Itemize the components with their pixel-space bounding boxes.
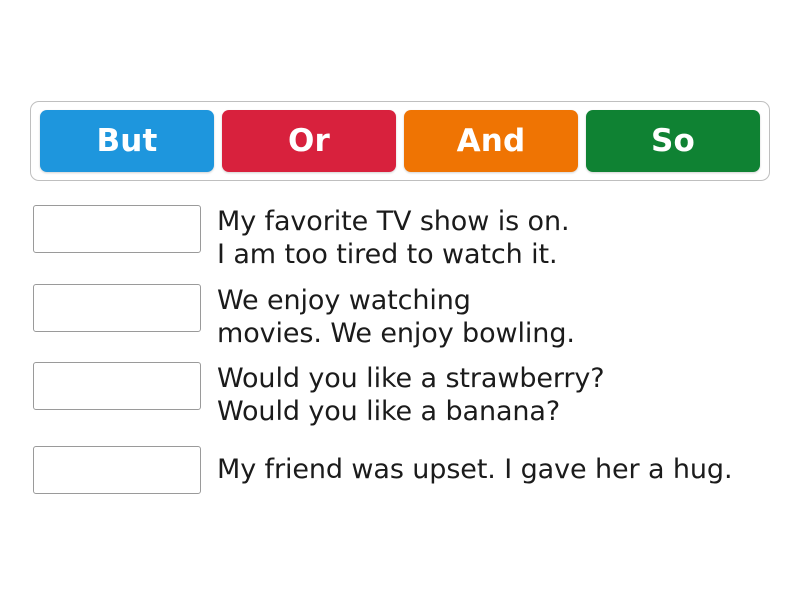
question-prompt-1: My favorite TV show is on. I am too tire… xyxy=(217,205,773,272)
word-tile-but[interactable]: But xyxy=(40,110,214,172)
word-tile-tray: But Or And So xyxy=(30,101,770,181)
question-list: My favorite TV show is on. I am too tire… xyxy=(33,205,773,504)
word-tile-so[interactable]: So xyxy=(586,110,760,172)
answer-dropzone-3[interactable] xyxy=(33,362,201,410)
question-prompt-3: Would you like a strawberry? Would you l… xyxy=(217,362,773,429)
question-row: We enjoy watching movies. We enjoy bowli… xyxy=(33,284,773,351)
word-tile-and[interactable]: And xyxy=(404,110,578,172)
question-row: My friend was upset. I gave her a hug. xyxy=(33,446,773,494)
activity-stage: But Or And So My favorite TV show is on.… xyxy=(0,0,800,600)
answer-dropzone-2[interactable] xyxy=(33,284,201,332)
word-tile-label: And xyxy=(457,126,526,157)
word-tile-or[interactable]: Or xyxy=(222,110,396,172)
answer-dropzone-4[interactable] xyxy=(33,446,201,494)
word-tile-label: So xyxy=(651,126,695,157)
answer-dropzone-1[interactable] xyxy=(33,205,201,253)
question-row: My favorite TV show is on. I am too tire… xyxy=(33,205,773,272)
word-tile-label: Or xyxy=(288,126,330,157)
question-prompt-2: We enjoy watching movies. We enjoy bowli… xyxy=(217,284,773,351)
question-row: Would you like a strawberry? Would you l… xyxy=(33,362,773,429)
question-prompt-4: My friend was upset. I gave her a hug. xyxy=(217,454,773,486)
word-tile-label: But xyxy=(96,126,157,157)
